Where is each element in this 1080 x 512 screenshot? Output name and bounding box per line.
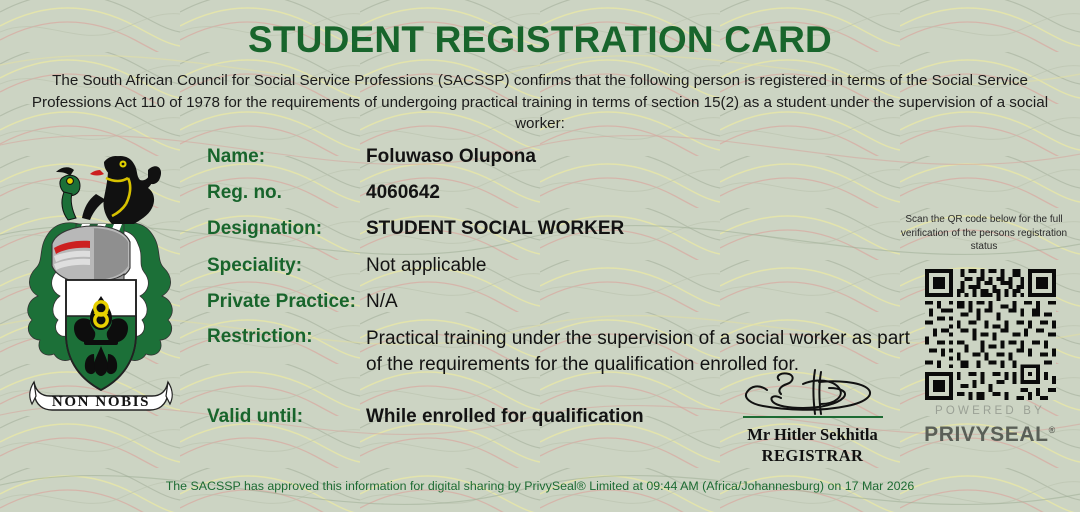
intro-paragraph: The South African Council for Social Ser… xyxy=(24,70,1056,135)
shield xyxy=(66,280,136,390)
qr-code[interactable] xyxy=(925,269,1056,400)
page-title: STUDENT REGISTRATION CARD xyxy=(0,19,1080,61)
approval-footer: The SACSSP has approved this information… xyxy=(0,479,1080,493)
field-designation-label: Designation: xyxy=(207,218,322,240)
field-valid-until-value: While enrolled for qualification xyxy=(366,406,644,428)
svg-text:NON NOBIS: NON NOBIS xyxy=(52,394,150,410)
coat-of-arms-emblem: NON NOBIS xyxy=(16,148,184,414)
brand-powered-by: POWERED BY xyxy=(910,404,1070,418)
student-registration-card: STUDENT REGISTRATION CARD The South Afri… xyxy=(0,0,1080,512)
brand-trademark-icon: ® xyxy=(1049,425,1056,435)
field-reg-no-label: Reg. no. xyxy=(207,182,282,204)
privyseal-brand: POWERED BY PRIVYSEAL® xyxy=(910,404,1070,447)
field-reg-no-value: 4060642 xyxy=(366,182,440,204)
signature-block: Mr Hitler Sekhitla REGISTRAR xyxy=(700,368,925,467)
field-restriction-label: Restriction: xyxy=(207,326,313,348)
field-speciality-label: Speciality: xyxy=(207,255,302,277)
signature-rule xyxy=(743,416,883,418)
field-name-label: Name: xyxy=(207,146,265,168)
lion-crest xyxy=(56,156,161,224)
qr-instruction-text: Scan the QR code below for the full veri… xyxy=(900,213,1068,254)
field-speciality-value: Not applicable xyxy=(366,255,486,277)
field-designation-value: STUDENT SOCIAL WORKER xyxy=(366,218,624,240)
brand-name: PRIVYSEAL® xyxy=(910,418,1070,447)
registrar-role: REGISTRAR xyxy=(700,445,925,467)
field-private-practice-value: N/A xyxy=(366,291,398,313)
brand-name-text: PRIVYSEAL xyxy=(924,423,1048,446)
field-private-practice-label: Private Practice: xyxy=(207,291,356,313)
field-name-value: Foluwaso Olupona xyxy=(366,146,536,168)
handwritten-signature-icon xyxy=(733,368,893,416)
field-valid-until-label: Valid until: xyxy=(207,406,303,428)
registrar-name: Mr Hitler Sekhitla xyxy=(700,424,925,445)
